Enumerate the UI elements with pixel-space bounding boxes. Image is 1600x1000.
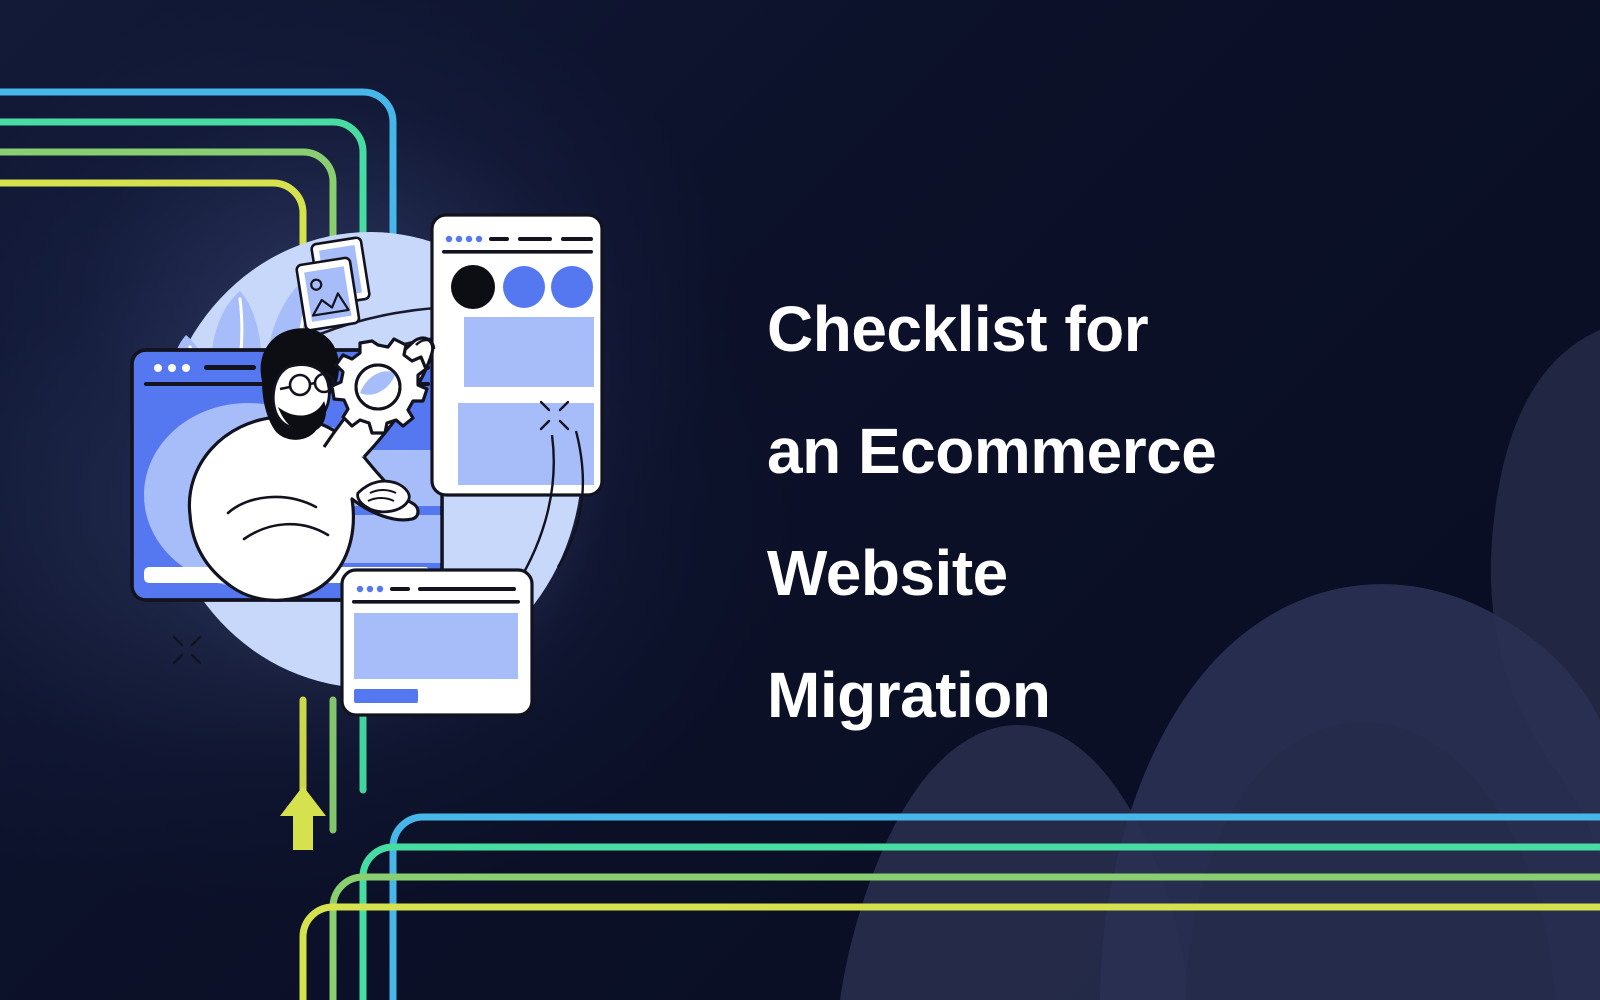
avatar-blue-1 — [503, 266, 545, 308]
bottom-card-content-block — [354, 613, 518, 679]
headline-line-3: Website — [767, 512, 1407, 634]
bottom-card-panel[interactable] — [342, 570, 532, 715]
headline-line-2: an Ecommerce — [767, 390, 1407, 512]
sparkle-icon-bottom-left — [174, 637, 200, 663]
hero-illustration — [120, 195, 680, 735]
right-card-block-1 — [464, 317, 594, 387]
page-title: Checklist for an Ecommerce Website Migra… — [767, 268, 1407, 756]
person-hand — [358, 481, 410, 512]
headline-line-4: Migration — [767, 634, 1407, 756]
headline-line-1: Checklist for — [767, 268, 1407, 390]
avatar-blue-2 — [551, 266, 593, 308]
bottom-card-button[interactable] — [354, 689, 418, 703]
right-card-panel[interactable] — [432, 215, 602, 495]
right-card-avatar-row — [451, 265, 593, 309]
avatar-dark — [451, 265, 495, 309]
illustration-svg — [120, 195, 680, 735]
right-card-block-2 — [458, 403, 594, 485]
banner-root: Checklist for an Ecommerce Website Migra… — [0, 0, 1600, 1000]
